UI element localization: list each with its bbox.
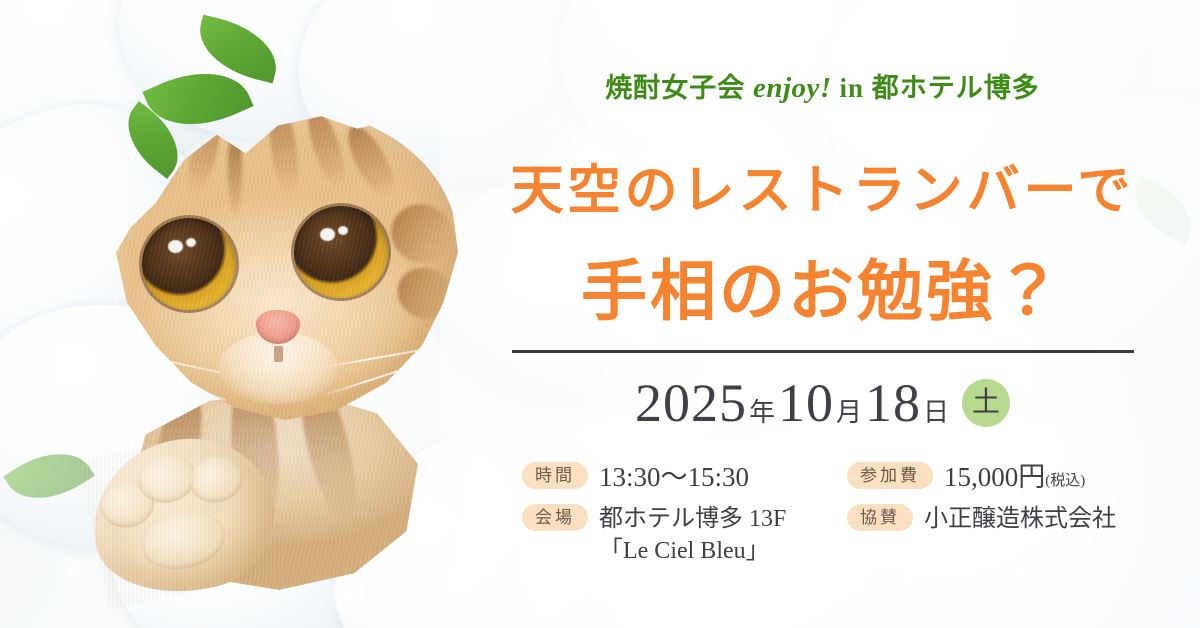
fee-amount: 15,000円 bbox=[944, 462, 1045, 492]
date-day-unit: 日 bbox=[923, 398, 949, 427]
cat-eye-right bbox=[294, 206, 388, 298]
headline-line-1: 天空のレストランバーで bbox=[500, 148, 1145, 224]
detail-row-venue: 会場 都ホテル博多 13F「Le Ciel Bleu」 bbox=[522, 504, 847, 568]
event-date: 2025年10月18日土 bbox=[500, 372, 1145, 434]
date-day: 18 bbox=[865, 373, 921, 433]
kicker-jp-after: in 都ホテル博多 bbox=[832, 73, 1040, 103]
date-month: 10 bbox=[778, 373, 834, 433]
event-banner: 焼酎女子会 enjoy! in 都ホテル博多 天空のレストランバーで 手相のお勉… bbox=[0, 0, 1200, 628]
detail-value-fee: 15,000円(税込) bbox=[944, 462, 1085, 496]
banner-text-content: 焼酎女子会 enjoy! in 都ホテル博多 天空のレストランバーで 手相のお勉… bbox=[500, 0, 1160, 628]
kicker-jp-before: 焼酎女子会 bbox=[605, 73, 753, 103]
kicker-text: 焼酎女子会 enjoy! in 都ホテル博多 bbox=[500, 66, 1145, 105]
detail-value-time: 13:30〜15:30 bbox=[599, 462, 749, 492]
date-month-unit: 月 bbox=[836, 398, 862, 427]
kicker-en: enjoy! bbox=[753, 72, 832, 104]
date-year-unit: 年 bbox=[749, 398, 775, 427]
detail-label-venue: 会場 bbox=[522, 504, 588, 531]
weekday-badge: 土 bbox=[962, 379, 1010, 427]
detail-label-fee: 参加費 bbox=[847, 462, 933, 489]
headline-line-2: 手相のお勉強？ bbox=[500, 238, 1145, 334]
cat-cutout-image bbox=[78, 100, 478, 600]
detail-label-time: 時間 bbox=[522, 462, 588, 489]
divider-rule bbox=[512, 350, 1134, 353]
venue-line-1: 都ホテル博多 13F bbox=[599, 506, 786, 532]
date-year: 2025 bbox=[635, 373, 747, 433]
fee-tax-note: (税込) bbox=[1045, 473, 1085, 489]
detail-value-sponsor: 小正醸造株式会社 bbox=[924, 504, 1116, 534]
details-grid: 時間 13:30〜15:30 参加費 15,000円(税込) 会場 都ホテル博多… bbox=[522, 462, 1162, 568]
cat-head bbox=[98, 110, 458, 420]
detail-row-time: 時間 13:30〜15:30 bbox=[522, 462, 847, 496]
detail-row-fee: 参加費 15,000円(税込) bbox=[847, 462, 1162, 496]
detail-row-sponsor: 協賛 小正醸造株式会社 bbox=[847, 504, 1162, 568]
detail-value-venue: 都ホテル博多 13F「Le Ciel Bleu」 bbox=[599, 504, 786, 568]
cat-eye-left bbox=[142, 218, 236, 310]
detail-label-sponsor: 協賛 bbox=[847, 504, 913, 531]
venue-line-2: 「Le Ciel Bleu」 bbox=[599, 534, 786, 568]
